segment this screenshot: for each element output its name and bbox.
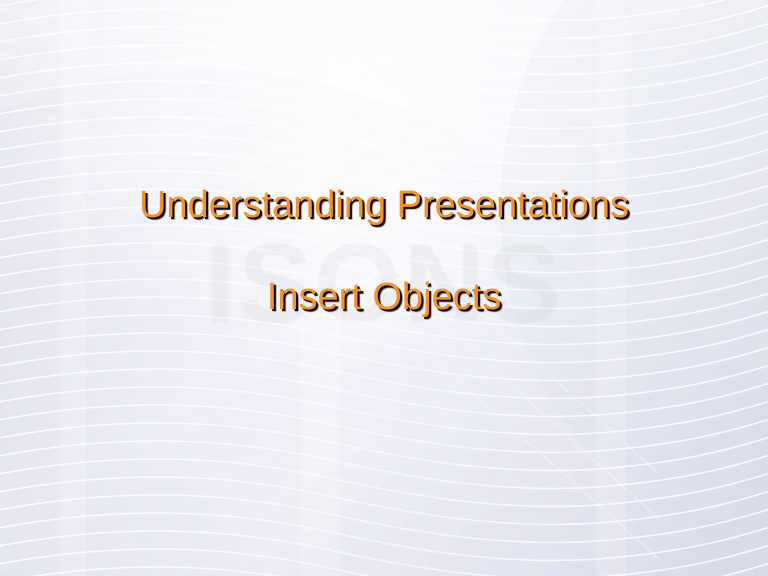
title-line-spacer <box>0 226 768 278</box>
slide-title-line-1: Understanding Presentations <box>0 186 768 226</box>
slide-title-line-2: Insert Objects <box>0 278 768 318</box>
presentation-slide: ISONS Understanding Presentations Insert… <box>0 0 768 576</box>
slide-title-block[interactable]: Understanding Presentations Insert Objec… <box>0 186 768 318</box>
